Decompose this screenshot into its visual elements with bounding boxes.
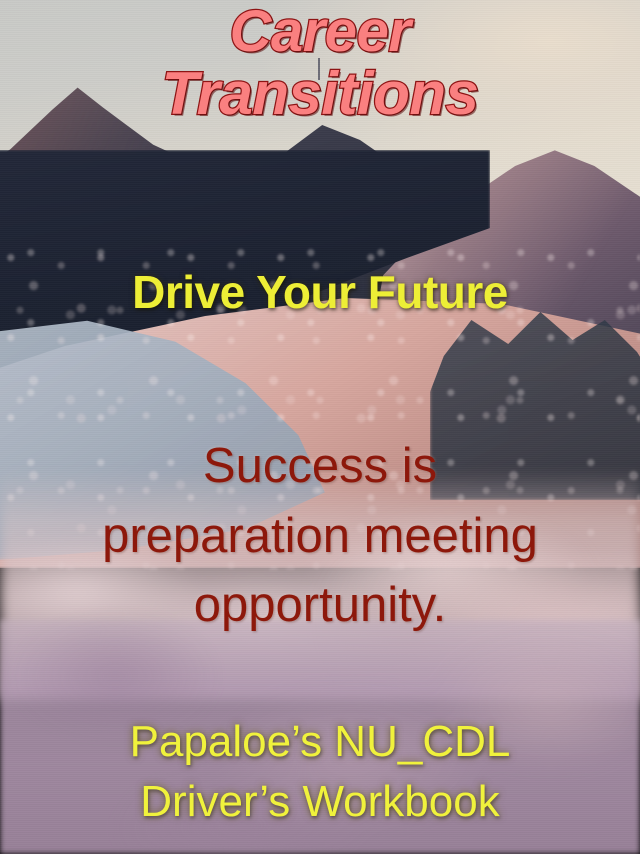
quote-line-1: Success is: [0, 432, 640, 502]
title-line-1: Career: [0, 2, 640, 61]
quote-block: Success is preparation meeting opportuni…: [0, 432, 640, 641]
poster-title: Career Transitions: [0, 2, 640, 124]
text-overlay: Career Transitions Drive Your Future Suc…: [0, 0, 640, 854]
quote-line-3: opportunity.: [0, 571, 640, 641]
poster-card: Career Transitions Drive Your Future Suc…: [0, 0, 640, 854]
headline-text: Drive Your Future: [0, 265, 640, 319]
quote-line-2: preparation meeting: [0, 502, 640, 572]
title-line-2: Transitions: [0, 63, 640, 124]
footer-branding: Papaloe’s NU_CDL Driver’s Workbook: [0, 712, 640, 832]
footer-line-1: Papaloe’s NU_CDL: [0, 712, 640, 772]
footer-line-2: Driver’s Workbook: [0, 772, 640, 832]
